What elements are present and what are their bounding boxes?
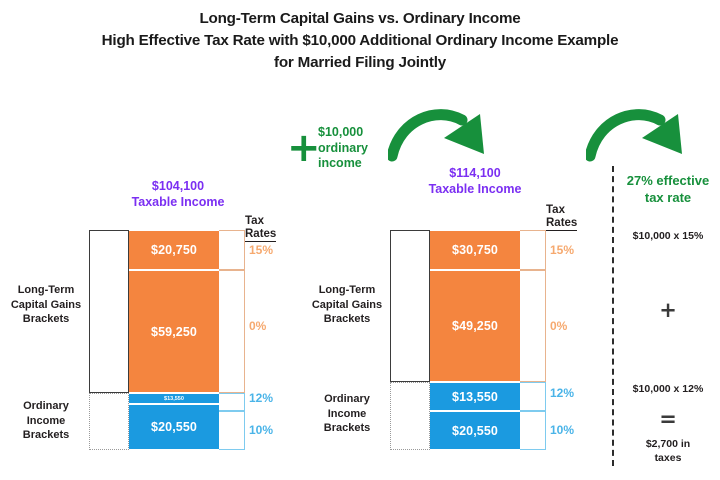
plus-icon: + <box>287 128 321 168</box>
ordinary-label-line2: Income <box>328 408 367 420</box>
ltcg-range-box-after <box>390 230 430 382</box>
segment-amount: $20,750 <box>151 243 197 257</box>
equals-operator: = <box>618 409 718 430</box>
ltcg-brackets-label-before: Long-Term Capital Gains Brackets <box>4 283 88 327</box>
tax-rate-ord10-after: 10% <box>550 423 574 437</box>
ltcg-label-line1: Long-Term <box>18 284 75 296</box>
segment-ord-10-after: $20,550 <box>430 411 520 450</box>
ordinary-range-box-before <box>89 393 129 450</box>
tax-rate-ltcg15-after: 15% <box>550 243 574 257</box>
ordinary-brackets-label-after: Ordinary Income Brackets <box>305 392 389 436</box>
tax-rates-heading-before: Tax Rates <box>245 215 276 242</box>
ordinary-label-line1: Ordinary <box>23 400 69 412</box>
capacity-box-ltcg15-before <box>218 230 245 270</box>
effective-rate-line-1: 27% effective <box>627 173 709 188</box>
segment-ltcg-0-before: $59,250 <box>129 270 219 393</box>
taxable-income-heading-after: $114,100 Taxable Income <box>405 165 545 197</box>
title-line-1: Long-Term Capital Gains vs. Ordinary Inc… <box>0 8 720 30</box>
title-line-3: for Married Filing Jointly <box>0 52 720 74</box>
tax-rate-ord12-after: 12% <box>550 386 574 400</box>
capacity-box-ltcg0-after <box>519 270 546 382</box>
additional-income-note: $10,000 ordinary income <box>318 125 384 172</box>
calc-line-1: $10,000 x 15% <box>618 229 718 243</box>
segment-amount: $13,550 <box>164 396 184 402</box>
taxable-income-label-after: Taxable Income <box>429 182 522 196</box>
ordinary-brackets-label-before: Ordinary Income Brackets <box>4 399 88 443</box>
ltcg-label-line3: Brackets <box>324 313 370 325</box>
plus-operator: + <box>618 300 718 321</box>
curved-arrow-icon-2 <box>586 104 696 166</box>
segment-ltcg-0-after: $49,250 <box>430 270 520 382</box>
calc-line-2: $10,000 x 12% <box>618 382 718 396</box>
tax-rates-heading-after: Tax Rates <box>546 204 577 231</box>
ordinary-label-line3: Brackets <box>324 422 370 434</box>
tax-rate-ord10-before: 10% <box>249 423 273 437</box>
tax-rate-ltcg0-before: 0% <box>249 319 266 333</box>
effective-tax-rate-heading: 27% effective tax rate <box>618 172 718 206</box>
segment-amount: $20,550 <box>151 420 197 434</box>
curved-arrow-icon-1 <box>388 104 498 166</box>
ltcg-brackets-label-after: Long-Term Capital Gains Brackets <box>305 283 389 327</box>
capacity-box-ord10-before <box>218 411 245 450</box>
ordinary-label-line3: Brackets <box>23 429 69 441</box>
note-line-1: $10,000 <box>318 125 363 139</box>
tax-rate-ord12-before: 12% <box>249 391 273 405</box>
segment-ltcg-15-after: $30,750 <box>430 230 520 270</box>
taxable-income-amount-after: $114,100 <box>449 166 500 180</box>
effective-rate-line-2: tax rate <box>645 190 691 205</box>
taxable-income-amount-before: $104,100 <box>152 179 204 193</box>
segment-ord-12-after: $13,550 <box>430 382 520 411</box>
page-title: Long-Term Capital Gains vs. Ordinary Inc… <box>0 8 720 74</box>
taxable-income-label-before: Taxable Income <box>132 195 225 209</box>
segment-amount: $13,550 <box>452 390 498 404</box>
segment-ord-10-before: $20,550 <box>129 404 219 450</box>
ltcg-label-line1: Long-Term <box>319 284 376 296</box>
segment-amount: $49,250 <box>452 319 498 333</box>
tax-rate-ltcg15-before: 15% <box>249 243 273 257</box>
panel-divider <box>612 166 614 466</box>
total-line-2: taxes <box>655 452 682 464</box>
capacity-box-ltcg0-before <box>218 270 245 393</box>
capacity-box-ord10-after <box>519 411 546 450</box>
segment-amount: $20,550 <box>452 424 498 438</box>
segment-ltcg-15-before: $20,750 <box>129 230 219 270</box>
note-line-3: income <box>318 156 362 170</box>
ltcg-range-box-before <box>89 230 129 393</box>
segment-amount: $30,750 <box>452 243 498 257</box>
ordinary-label-line2: Income <box>27 415 66 427</box>
ltcg-label-line2: Capital Gains <box>312 299 382 311</box>
note-line-2: ordinary <box>318 141 368 155</box>
tax-rate-ltcg0-after: 0% <box>550 319 567 333</box>
title-line-2: High Effective Tax Rate with $10,000 Add… <box>0 30 720 52</box>
taxable-income-heading-before: $104,100 Taxable Income <box>108 178 248 210</box>
total-line-1: $2,700 in <box>646 438 690 450</box>
ltcg-label-line3: Brackets <box>23 313 69 325</box>
capacity-box-ltcg15-after <box>519 230 546 270</box>
capacity-box-ord12-before <box>218 393 245 411</box>
ltcg-label-line2: Capital Gains <box>11 299 81 311</box>
ordinary-range-box-after <box>390 382 430 450</box>
ordinary-label-line1: Ordinary <box>324 393 370 405</box>
capacity-box-ord12-after <box>519 382 546 411</box>
segment-ord-12-before: $13,550 <box>129 393 219 404</box>
total-taxes-result: $2,700 in taxes <box>618 437 718 465</box>
segment-amount: $59,250 <box>151 325 197 339</box>
